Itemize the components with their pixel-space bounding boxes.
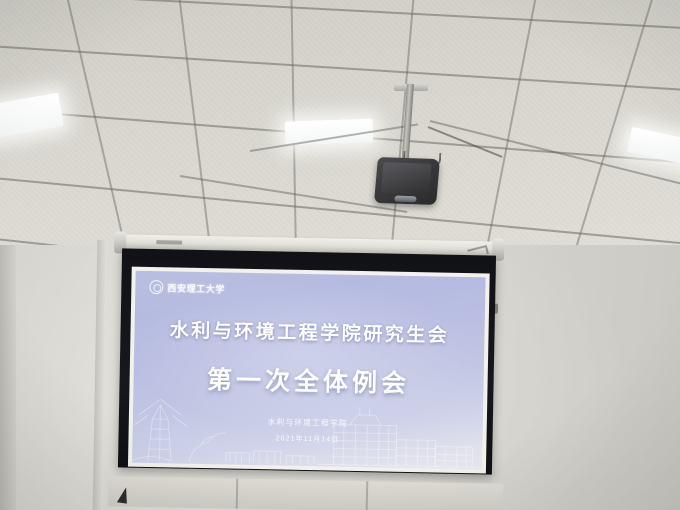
presentation-slide: 西安理工大学 水利与环境工程学院研究生会 第一次全体例会 水利与环境工程学院 2…: [132, 271, 486, 470]
screen-black-border: 西安理工大学 水利与环境工程学院研究生会 第一次全体例会 水利与环境工程学院 2…: [118, 248, 496, 474]
cabinet-seam: [236, 479, 238, 509]
university-logo: 西安理工大学: [149, 280, 225, 295]
projector-lens: [394, 196, 417, 203]
projection-screen[interactable]: 西安理工大学 水利与环境工程学院研究生会 第一次全体例会 水利与环境工程学院 2…: [116, 234, 499, 486]
screen-brand-label: [156, 240, 182, 244]
slide-title-line-2: 第一次全体例会: [133, 359, 484, 402]
cabinet-seam: [366, 481, 368, 510]
photo-scene: 西安理工大学 水利与环境工程学院研究生会 第一次全体例会 水利与环境工程学院 2…: [0, 0, 680, 510]
ceiling-projector: [368, 84, 488, 214]
university-emblem-icon: [149, 280, 163, 294]
university-logo-text: 西安理工大学: [167, 281, 225, 295]
wall-left-edge: [0, 225, 16, 510]
slide-title-line-1: 水利与环境工程学院研究生会: [134, 315, 484, 349]
projector-body: [374, 157, 440, 205]
projector-front-panel: [381, 162, 432, 195]
suspended-tile-ceiling: [0, 0, 680, 245]
screen-surface: 西安理工大学 水利与环境工程学院研究生会 第一次全体例会 水利与环境工程学院 2…: [128, 267, 490, 474]
